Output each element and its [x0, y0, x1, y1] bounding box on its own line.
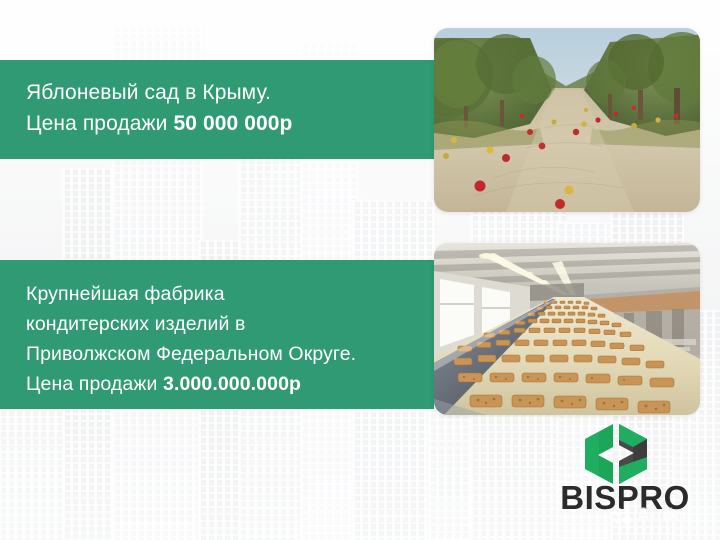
avito-watermark-text: Avito — [636, 505, 687, 526]
avito-dots-icon — [613, 506, 633, 526]
banner-factory-line-4: Цена продажи 3.000.000.000р — [26, 369, 412, 399]
photo-orchard-image — [434, 28, 700, 212]
banner-factory: Крупнейшая фабрика кондитерских изделий … — [0, 260, 434, 409]
banner-factory-line-2: кондитерских изделий в — [26, 309, 412, 339]
banner-orchard: Яблоневый сад в Крыму. Цена продажи 50 0… — [0, 60, 434, 159]
banner-factory-price-value: 3.000.000.000р — [163, 373, 301, 395]
promo-banner-canvas: Яблоневый сад в Крыму. Цена продажи 50 0… — [0, 0, 720, 540]
banner-orchard-line-1: Яблоневый сад в Крыму. — [26, 78, 412, 109]
banner-factory-line-1: Крупнейшая фабрика — [26, 279, 412, 309]
photo-factory — [434, 243, 700, 415]
banner-factory-price-label: Цена продажи — [26, 373, 163, 395]
banner-orchard-price-value: 50 000 000р — [173, 112, 292, 135]
bispro-logo: BISPRO — [545, 423, 705, 515]
photo-factory-image — [434, 243, 700, 415]
banner-orchard-price-label: Цена продажи — [26, 112, 173, 135]
banner-factory-line-3: Приволжском Федеральном Округе. — [26, 339, 412, 369]
avito-watermark: Avito — [613, 505, 687, 526]
photo-orchard — [434, 28, 700, 212]
banner-orchard-line-2: Цена продажи 50 000 000р — [26, 109, 412, 140]
bispro-hexagon-mark-icon — [583, 423, 649, 485]
